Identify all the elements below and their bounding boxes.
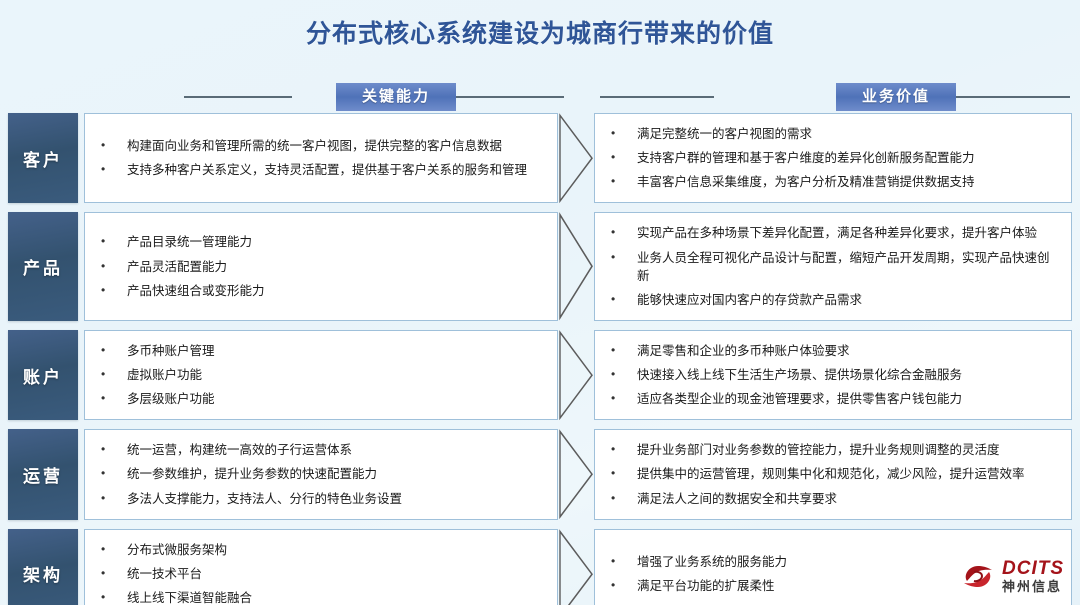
row-label-operation: 运营 <box>8 429 78 519</box>
bullet-icon: • <box>611 490 637 507</box>
row-label-customer: 客户 <box>8 113 78 203</box>
bullet-icon: • <box>101 137 127 154</box>
list-item: •虚拟账户功能 <box>101 363 547 387</box>
list-item: •满足法人之间的数据安全和共享要求 <box>611 487 1061 511</box>
list-item: •满足零售和企业的多币种账户体验要求 <box>611 339 1061 363</box>
bullet-icon: • <box>611 342 637 359</box>
bullet-icon: • <box>611 366 637 383</box>
column-header-business-value: 业务价值 <box>600 82 1070 112</box>
bullet-icon: • <box>101 589 127 605</box>
table-row: 账户 •多币种账户管理 •虚拟账户功能 •多层级账户功能 •满足零售和企业的多币… <box>0 330 1080 420</box>
list-item: •业务人员全程可视化产品设计与配置，缩短产品开发周期，实现产品快速创新 <box>611 246 1061 288</box>
value-box-account: •满足零售和企业的多币种账户体验要求 •快速接入线上线下生活生产场景、提供场景化… <box>594 330 1072 420</box>
bullet-icon: • <box>101 490 127 507</box>
list-item: •分布式微服务架构 <box>101 538 547 562</box>
row-label-product: 产品 <box>8 212 78 321</box>
logo-chinese: 神州信息 <box>1002 580 1064 593</box>
capability-box-customer: •构建面向业务和管理所需的统一客户视图，提供完整的客户信息数据 •支持多种客户关… <box>84 113 558 203</box>
capability-box-operation: •统一运营，构建统一高效的子行运营体系 •统一参数维护，提升业务参数的快速配置能… <box>84 429 558 519</box>
list-item: •统一参数维护，提升业务参数的快速配置能力 <box>101 462 547 486</box>
bullet-icon: • <box>611 465 637 482</box>
header-line-right <box>456 96 564 98</box>
column-headers: 关键能力 业务价值 <box>0 82 1080 112</box>
header-line-left <box>184 96 292 98</box>
bullet-icon: • <box>611 577 637 594</box>
list-item: •快速接入线上线下生活生产场景、提供场景化综合金融服务 <box>611 363 1061 387</box>
capability-box-architecture: •分布式微服务架构 •统一技术平台 •线上线下渠道智能融合 <box>84 529 558 605</box>
bullet-icon: • <box>101 161 127 178</box>
table-row: 产品 •产品目录统一管理能力 •产品灵活配置能力 •产品快速组合或变形能力 •实… <box>0 212 1080 321</box>
list-item: •产品快速组合或变形能力 <box>101 279 547 303</box>
chevron-right-icon <box>558 212 594 321</box>
page-title: 分布式核心系统建设为城商行带来的价值 <box>0 14 1080 50</box>
table-row: 架构 •分布式微服务架构 •统一技术平台 •线上线下渠道智能融合 •增强了业务系… <box>0 529 1080 605</box>
bullet-icon: • <box>101 233 127 250</box>
header-line-right <box>956 96 1070 98</box>
company-logo: DCITS 神州信息 <box>961 559 1064 593</box>
list-item: •提升业务部门对业务参数的管控能力，提升业务规则调整的灵活度 <box>611 438 1061 462</box>
bullet-icon: • <box>101 366 127 383</box>
value-box-customer: •满足完整统一的客户视图的需求 •支持客户群的管理和基于客户维度的差异化创新服务… <box>594 113 1072 203</box>
list-item: •产品目录统一管理能力 <box>101 230 547 254</box>
dcits-swirl-icon <box>961 561 995 591</box>
list-item: •丰富客户信息采集维度，为客户分析及精准营销提供数据支持 <box>611 170 1061 194</box>
list-item: •线上线下渠道智能融合 <box>101 586 547 605</box>
bullet-icon: • <box>611 390 637 407</box>
row-label-architecture: 架构 <box>8 529 78 605</box>
list-item: •能够快速应对国内客户的存贷款产品需求 <box>611 288 1061 312</box>
bullet-icon: • <box>611 125 637 142</box>
bullet-icon: • <box>611 441 637 458</box>
bullet-icon: • <box>101 342 127 359</box>
list-item: •多层级账户功能 <box>101 387 547 411</box>
row-label-account: 账户 <box>8 330 78 420</box>
bullet-icon: • <box>611 149 637 166</box>
bullet-icon: • <box>611 173 637 190</box>
bullet-icon: • <box>611 249 637 266</box>
bullet-icon: • <box>101 390 127 407</box>
bullet-icon: • <box>101 282 127 299</box>
table-row: 运营 •统一运营，构建统一高效的子行运营体系 •统一参数维护，提升业务参数的快速… <box>0 429 1080 519</box>
chevron-right-icon <box>558 113 594 203</box>
bullet-icon: • <box>101 441 127 458</box>
list-item: •适应各类型企业的现金池管理要求，提供零售客户钱包能力 <box>611 387 1061 411</box>
value-box-product: •实现产品在多种场景下差异化配置，满足各种差异化要求，提升客户体验 •业务人员全… <box>594 212 1072 321</box>
list-item: •多法人支撑能力，支持法人、分行的特色业务设置 <box>101 487 547 511</box>
bullet-icon: • <box>101 541 127 558</box>
bullet-icon: • <box>611 224 637 241</box>
table-row: 客户 •构建面向业务和管理所需的统一客户视图，提供完整的客户信息数据 •支持多种… <box>0 113 1080 203</box>
list-item: •多币种账户管理 <box>101 339 547 363</box>
logo-text: DCITS 神州信息 <box>1002 559 1064 593</box>
list-item: •产品灵活配置能力 <box>101 255 547 279</box>
chevron-right-icon <box>558 529 594 605</box>
bullet-icon: • <box>611 553 637 570</box>
badge-key-capabilities: 关键能力 <box>336 83 456 111</box>
bullet-icon: • <box>101 258 127 275</box>
list-item: •实现产品在多种场景下差异化配置，满足各种差异化要求，提升客户体验 <box>611 221 1061 245</box>
logo-english: DCITS <box>1002 559 1064 578</box>
list-item: •支持多种客户关系定义，支持灵活配置，提供基于客户关系的服务和管理 <box>101 158 547 182</box>
list-item: •提供集中的运营管理，规则集中化和规范化，减少风险，提升运营效率 <box>611 462 1061 486</box>
badge-business-value: 业务价值 <box>836 83 956 111</box>
chevron-right-icon <box>558 429 594 519</box>
list-item: •构建面向业务和管理所需的统一客户视图，提供完整的客户信息数据 <box>101 134 547 158</box>
value-box-operation: •提升业务部门对业务参数的管控能力，提升业务规则调整的灵活度 •提供集中的运营管… <box>594 429 1072 519</box>
bullet-icon: • <box>101 465 127 482</box>
list-item: •满足完整统一的客户视图的需求 <box>611 122 1061 146</box>
capability-box-account: •多币种账户管理 •虚拟账户功能 •多层级账户功能 <box>84 330 558 420</box>
list-item: •支持客户群的管理和基于客户维度的差异化创新服务配置能力 <box>611 146 1061 170</box>
bullet-icon: • <box>101 565 127 582</box>
content-rows: 客户 •构建面向业务和管理所需的统一客户视图，提供完整的客户信息数据 •支持多种… <box>0 113 1080 605</box>
column-header-capabilities: 关键能力 <box>184 82 564 112</box>
header-line-left <box>600 96 714 98</box>
list-item: •统一技术平台 <box>101 562 547 586</box>
chevron-right-icon <box>558 330 594 420</box>
list-item: •统一运营，构建统一高效的子行运营体系 <box>101 438 547 462</box>
capability-box-product: •产品目录统一管理能力 •产品灵活配置能力 •产品快速组合或变形能力 <box>84 212 558 321</box>
bullet-icon: • <box>611 291 637 308</box>
